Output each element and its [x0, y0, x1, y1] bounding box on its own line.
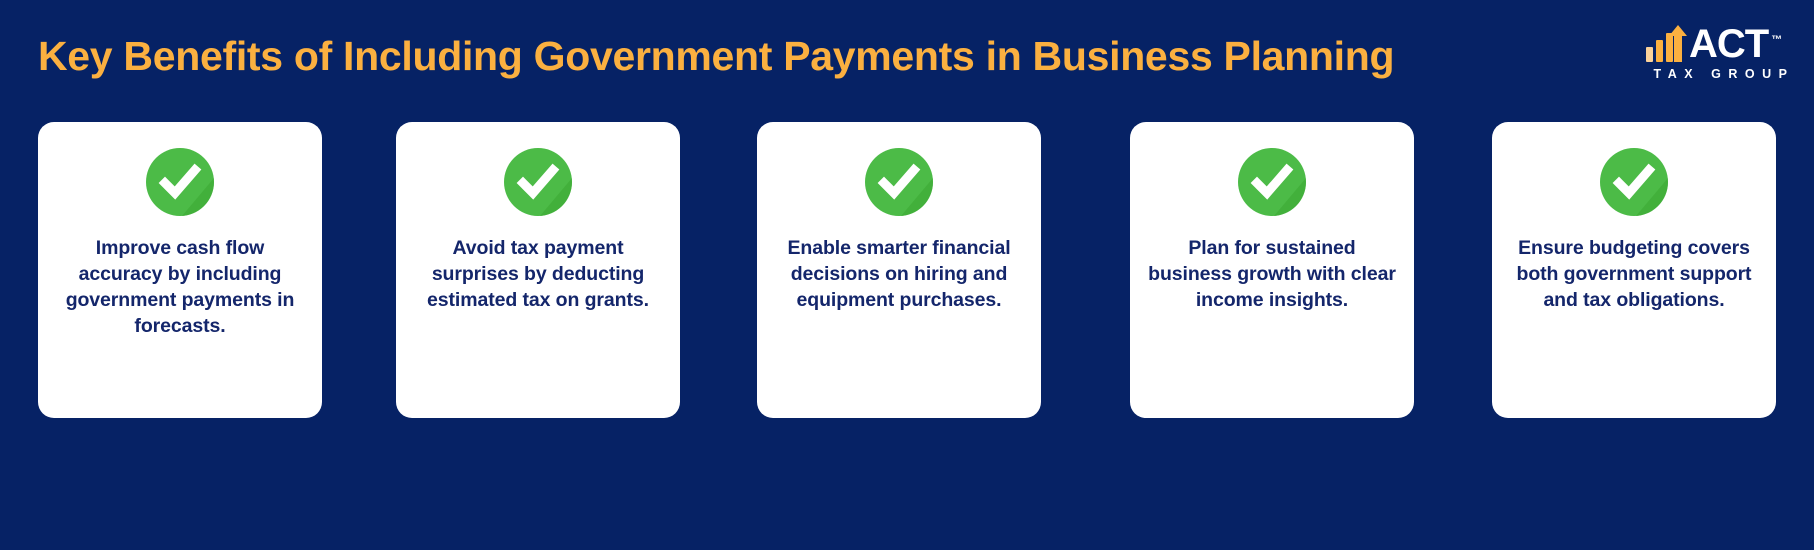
logo-up-arrow-icon [1674, 34, 1682, 62]
benefit-card-text: Avoid tax payment surprises by deducting… [410, 235, 666, 313]
benefit-card: Ensure budgeting covers both government … [1492, 122, 1776, 418]
green-check-circle-icon [1238, 148, 1306, 216]
infographic-banner: Key Benefits of Including Government Pay… [0, 0, 1814, 550]
logo-bar-1 [1646, 47, 1653, 62]
benefit-card-text: Ensure budgeting covers both government … [1506, 235, 1762, 313]
benefit-card-text: Plan for sustained business growth with … [1144, 235, 1400, 313]
green-check-circle-icon [865, 148, 933, 216]
header: Key Benefits of Including Government Pay… [0, 0, 1814, 110]
logo-tagline: TAX GROUP [1646, 67, 1796, 81]
logo-wordmark: ACT ™ [1689, 26, 1768, 62]
benefit-card: Plan for sustained business growth with … [1130, 122, 1414, 418]
trademark-icon: ™ [1771, 22, 1782, 58]
benefit-cards: Improve cash flow accuracy by including … [0, 122, 1814, 422]
logo-bar-3 [1666, 33, 1673, 62]
logo-bar-2 [1656, 40, 1663, 62]
green-check-circle-icon [504, 148, 572, 216]
page-title: Key Benefits of Including Government Pay… [38, 31, 1394, 81]
benefit-card: Improve cash flow accuracy by including … [38, 122, 322, 418]
green-check-circle-icon [146, 148, 214, 216]
green-check-circle-icon [1600, 148, 1668, 216]
benefit-card: Avoid tax payment surprises by deducting… [396, 122, 680, 418]
benefit-card-text: Enable smarter financial decisions on hi… [771, 235, 1027, 313]
logo-wordmark-text: ACT [1689, 22, 1768, 66]
act-tax-group-logo: ACT ™ TAX GROUP [1646, 22, 1796, 82]
logo-row: ACT ™ [1646, 22, 1796, 62]
benefit-card-text: Improve cash flow accuracy by including … [52, 235, 308, 339]
benefit-card: Enable smarter financial decisions on hi… [757, 122, 1041, 418]
bar-chart-arrow-icon [1646, 28, 1686, 62]
